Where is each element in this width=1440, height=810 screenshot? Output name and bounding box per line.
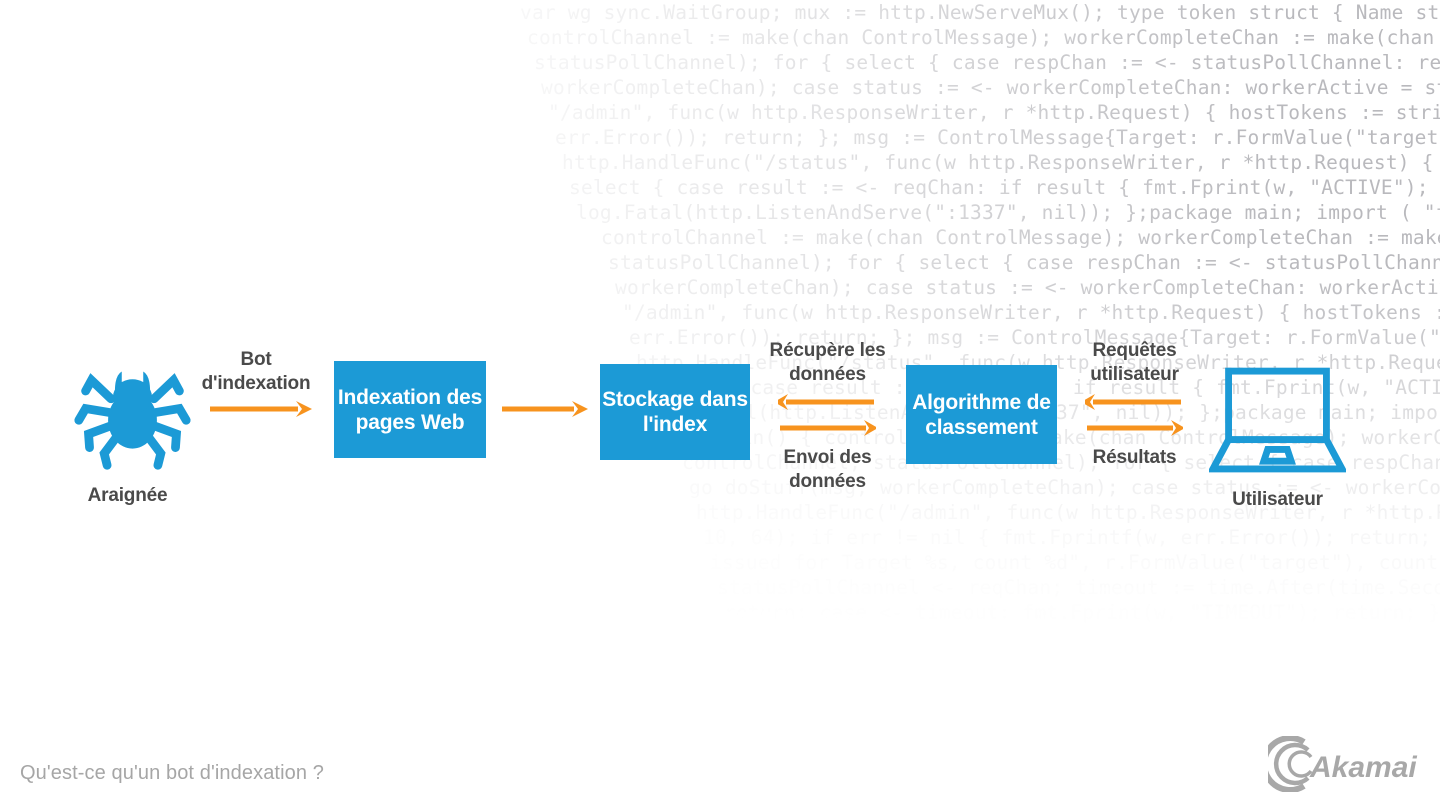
slide-footer-caption: Qu'est-ce qu'un bot d'indexation ? — [20, 762, 324, 785]
process-box-stockage[interactable]: Stockage dans l'index — [600, 364, 750, 460]
spider-icon — [70, 348, 195, 473]
edge-label-resultats: Résultats — [1062, 446, 1207, 470]
arrow-box1-to-box2 — [500, 398, 590, 420]
process-box-stockage-label: Stockage dans l'index — [600, 387, 750, 437]
process-box-indexation-label: Indexation des pages Web — [334, 385, 486, 435]
edge-label-recupere-donnees: Récupère les données — [755, 339, 900, 387]
laptop-icon — [1209, 367, 1346, 477]
akamai-logo-text: Akamai — [1309, 751, 1417, 784]
process-box-algorithme-label: Algorithme de classement — [906, 390, 1057, 440]
arrow-box2-to-box3-send — [778, 418, 876, 438]
arrow-box3-to-box2-fetch — [778, 392, 876, 412]
arrow-spider-to-box1 — [208, 398, 314, 420]
akamai-logo: Akamai — [1268, 736, 1428, 792]
node-caption-spider: Araignée — [60, 485, 195, 507]
edge-label-envoi-donnees: Envoi des données — [755, 446, 900, 494]
node-caption-laptop: Utilisateur — [1205, 489, 1350, 511]
edge-label-bot-indexation: Bot d'indexation — [186, 348, 326, 396]
crawler-flow-diagram: Araignée Bot d'indexation Indexation des… — [0, 0, 1440, 810]
process-box-indexation[interactable]: Indexation des pages Web — [334, 361, 486, 458]
slide-canvas: var wg sync.WaitGroup; mux := http.NewSe… — [0, 0, 1440, 810]
arrow-box3-to-laptop-results — [1085, 418, 1183, 438]
process-box-algorithme[interactable]: Algorithme de classement — [906, 365, 1057, 464]
edge-label-requetes-utilisateur: Requêtes utilisateur — [1062, 339, 1207, 387]
arrow-laptop-to-box3-requests — [1085, 392, 1183, 412]
